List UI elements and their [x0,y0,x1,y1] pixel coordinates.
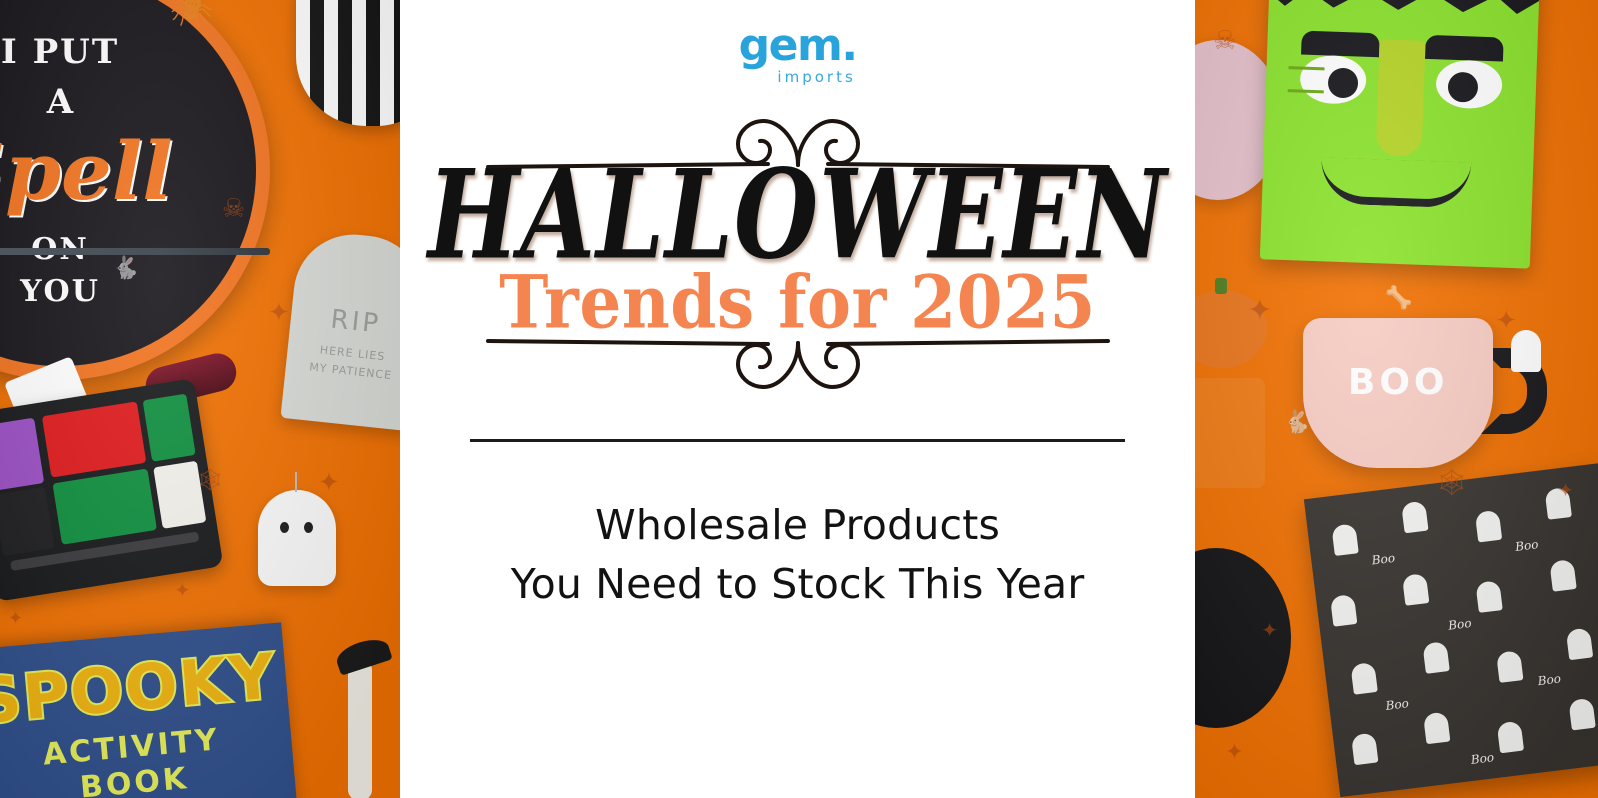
frankenstein-hair [1269,0,1540,15]
napkin-boo-text-4: Boo [1385,696,1410,713]
center-content-panel: gem. imports HALLOWEEN Trends for 2025 [400,0,1195,798]
logo-wordmark: gem. [739,24,857,68]
sparkle-doodle: ✦ [174,580,191,600]
spell-sign-line3: Spell [0,124,256,218]
napkin-boo-text-3: Boo [1448,616,1473,633]
frankenstein-stitches [1288,66,1325,93]
bat-doodle: 🐇 [112,258,139,280]
logo-subtext: imports [777,70,857,85]
tagline-line2: You Need to Stock This Year [511,555,1085,614]
skull-doodle: ☠ [222,196,245,222]
sparkle-doodle-right: ✦ [1557,480,1574,500]
frankenstein-nose [1376,39,1426,157]
ghost-napkins-prop: Boo Boo Boo Boo Boo Boo [1304,463,1598,797]
halloween-trends-banner: I PUT A Spell ON YOU RIP HERE LIES MY PA… [0,0,1598,798]
harlequin-candy-bowl-prop [296,0,400,126]
boo-mug-prop: BOO [1303,318,1493,468]
napkin-boo-text-5: Boo [1537,671,1562,688]
starburst-doodle-right: ✦ [1247,296,1272,326]
skeleton-prop [348,660,372,798]
spell-sign-line2: A [0,82,256,122]
spell-sign-prop: I PUT A Spell ON YOU [0,0,270,380]
tagline: Wholesale Products You Need to Stock Thi… [511,496,1085,615]
brand-logo[interactable]: gem. imports [739,24,857,85]
page-title: HALLOWEEN [428,158,1168,271]
boo-mug-text: BOO [1303,362,1493,403]
frankenstein-treat-bag-prop [1260,0,1540,269]
napkin-boo-text: Boo [1371,551,1396,568]
spell-sign-line1: I PUT [0,32,256,72]
star-doodle: ✦ [268,300,290,326]
skull-doodle-right: ☠ [1213,28,1236,54]
frankenstein-mouth [1320,157,1472,208]
napkin-boo-text-6: Boo [1470,750,1495,767]
spiderweb-doodle-right: 🕸 [1435,470,1468,496]
ghost-mug-topper-prop [1511,330,1541,372]
bat-doodle-right: 🐇 [1283,412,1310,434]
napkin-boo-text-2: Boo [1515,537,1540,554]
star-doodle-right: ✦ [1225,742,1243,764]
photo-left-halloween-props: I PUT A Spell ON YOU RIP HERE LIES MY PA… [0,0,400,798]
face-paint-palette-prop [0,378,223,602]
tombstone-prop: RIP HERE LIES MY PATIENCE [280,229,400,432]
activity-book-prop: SPOOKY ACTIVITY BOOK [0,622,298,798]
bone-doodle: 🦴 [1385,288,1412,310]
hero-title-block: HALLOWEEN Trends for 2025 [400,167,1195,335]
spider-doodle: 🕷 [170,0,213,28]
tagline-line1: Wholesale Products [511,496,1085,555]
sparkle-doodle-2: ✦ [8,610,23,628]
photo-right-halloween-props: BOO Boo Boo Boo Boo Boo Boo [1195,0,1598,798]
starburst-doodle-right-2: ✦ [1495,308,1517,334]
magic-wand-prop [0,248,270,255]
sparkle-doodle-right-2: ✦ [1261,620,1278,640]
page-subtitle: Trends for 2025 [400,265,1195,338]
section-divider [470,439,1125,442]
tombstone-line1: RIP [290,300,400,343]
starburst-doodle: ✦ [318,470,340,496]
ghost-candle-prop [258,490,336,586]
candle-wick [295,472,297,492]
orange-treat-cup-prop [1195,378,1265,488]
spiderweb-doodle: 🕸 [196,470,224,492]
